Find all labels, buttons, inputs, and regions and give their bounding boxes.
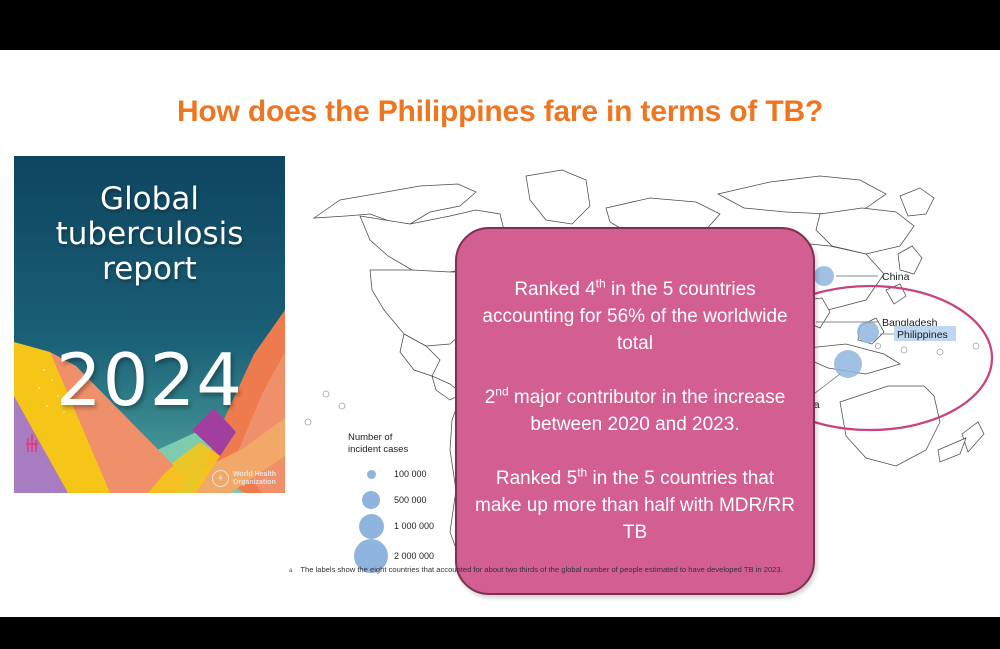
map-land-greenland (526, 170, 590, 224)
callout-paragraph-rank5: Ranked 5th in the 5 countries that make … (475, 465, 795, 546)
callout-paragraph-rank4: Ranked 4th in the 5 countries accounting… (475, 276, 795, 357)
map-land-new-zealand-south (938, 438, 966, 462)
map-land-japan (898, 246, 922, 274)
legend-value: 500 000 (394, 495, 427, 505)
footnote-text: The labels show the eight countries that… (300, 565, 782, 575)
callout-text-run: 2 (485, 387, 496, 408)
legend-title-line1: Number of (348, 432, 458, 444)
legend-value: 2 000 000 (394, 551, 434, 561)
callout-text-run: major contributor in the increase betwee… (509, 387, 786, 435)
map-bubble-small-g (323, 391, 329, 397)
legend-title-line2: incident cases (348, 444, 458, 456)
callout-paragraph-second: 2nd major contributor in the increase be… (475, 384, 795, 438)
slide-title: How does the Philippines fare in terms o… (0, 95, 1000, 129)
legend-bubble-icon (362, 491, 380, 509)
report-cover-image: Global tuberculosis report 2024 ⚘ World … (14, 156, 285, 493)
legend-row: 100 000 (348, 461, 458, 487)
map-label-philippines: Philippines (897, 329, 948, 341)
legend-title: Number of incident cases (348, 432, 458, 456)
legend-value: 100 000 (394, 469, 427, 479)
map-land-kamchatka (900, 188, 934, 216)
slide-canvas: How does the Philippines fare in terms o… (0, 50, 1000, 617)
legend-bubble-icon (367, 470, 376, 479)
map-bubble-small-c (973, 343, 979, 349)
legend-row: 1 000 000 (348, 513, 458, 539)
map-bubble-small-b (937, 349, 943, 355)
legend-bubble-cell (348, 491, 394, 509)
map-label-china: China (882, 271, 910, 283)
map-bubble-small-e (339, 403, 345, 409)
legend-value: 1 000 000 (394, 521, 434, 531)
legend-bubble-icon (359, 514, 384, 539)
who-emblem-icon: ⚘ (212, 470, 229, 487)
map-bubble-indonesia (834, 350, 862, 378)
cover-artwork (14, 156, 285, 493)
legend-bubble-cell (348, 470, 394, 479)
map-bubble-small-d (875, 343, 880, 348)
ordinal-suffix: th (577, 466, 587, 480)
letterbox-top (0, 0, 1000, 50)
map-legend: Number of incident cases 100 000 500 000 (348, 432, 458, 573)
map-bubble-china (814, 266, 834, 286)
map-land-new-zealand-north (962, 422, 984, 452)
legend-row: 500 000 (348, 487, 458, 513)
who-logo: ⚘ World Health Organization (212, 470, 276, 487)
callout-text-run: Ranked 5 (496, 468, 577, 489)
footnote-marker: a (289, 565, 292, 576)
who-logo-text: World Health Organization (233, 471, 276, 487)
map-bubble-small-f (305, 419, 311, 425)
callout-text-run: Ranked 4 (514, 279, 595, 300)
map-bubble-philippines (857, 321, 879, 343)
letterbox-bottom (0, 617, 1000, 649)
ordinal-suffix: nd (495, 385, 508, 399)
pink-callout-box: Ranked 4th in the 5 countries accounting… (455, 227, 815, 595)
map-bubble-small-a (901, 347, 907, 353)
ordinal-suffix: th (596, 277, 606, 291)
slide-viewer: How does the Philippines fare in terms o… (0, 0, 1000, 649)
map-land-australia (840, 386, 940, 466)
figure-footnote: a The labels show the eight countries th… (289, 565, 979, 576)
legend-bubble-cell (348, 514, 394, 539)
